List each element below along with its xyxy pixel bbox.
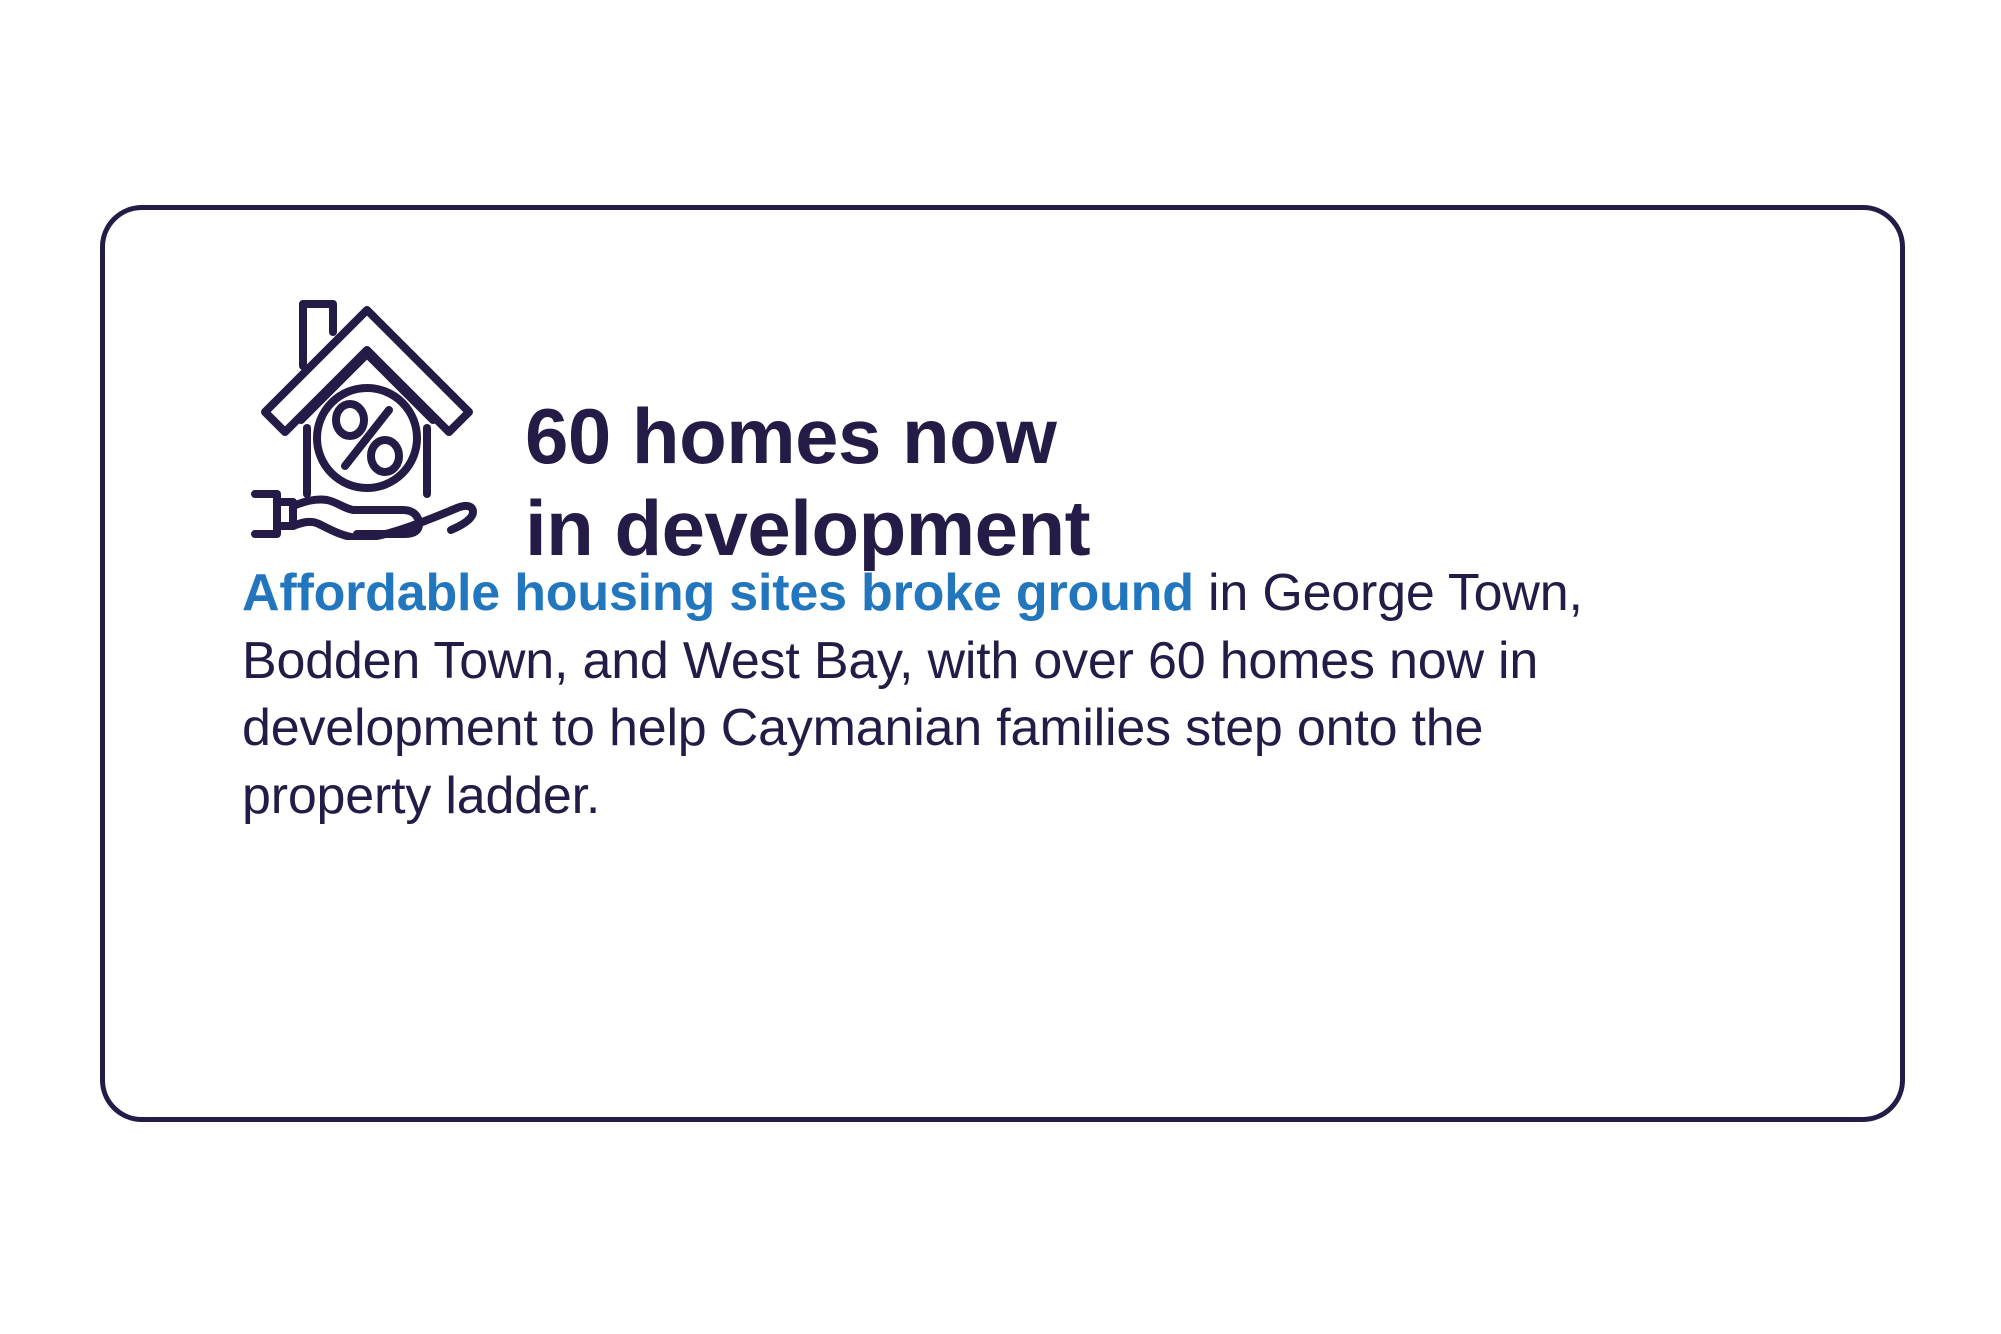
page-title: 60 homes now in development (525, 390, 1345, 574)
page-canvas: 60 homes now in development Affordable h… (0, 0, 2001, 1334)
info-card: 60 homes now in development Affordable h… (100, 205, 1905, 1122)
percent-lower-bowl-shape (371, 440, 399, 472)
body-paragraph: Affordable housing sites broke ground in… (242, 560, 1672, 830)
percent-upper-bowl-shape (336, 404, 364, 436)
house-with-percent-on-open-hand-icon (245, 280, 485, 540)
body-lead-highlight: Affordable housing sites broke ground (242, 564, 1194, 622)
